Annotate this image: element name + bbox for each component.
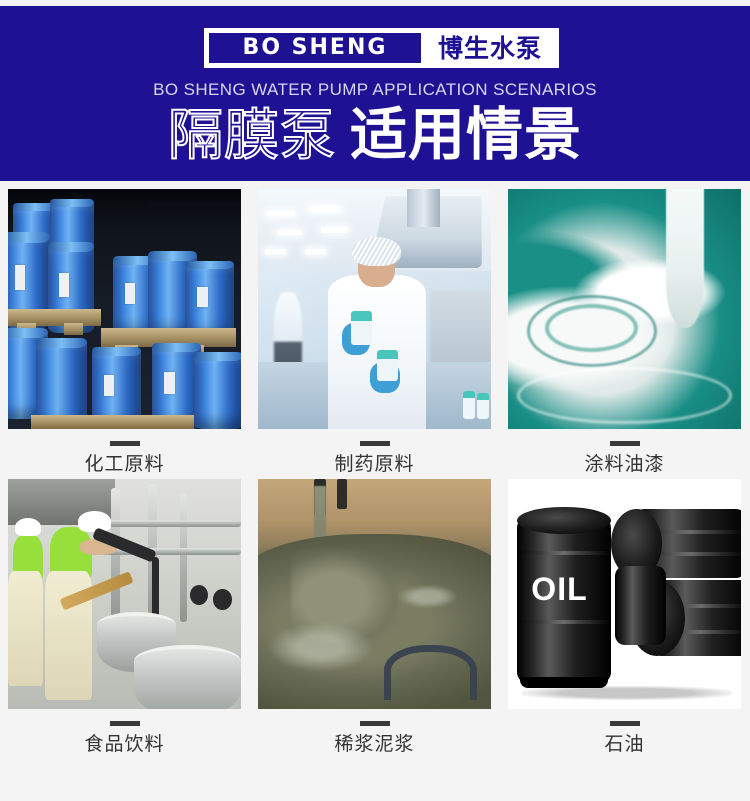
paint-coating-photo[interactable] [508, 189, 741, 429]
caption-dash [360, 441, 390, 446]
scenario-card-chemical[interactable]: 化工原料 [8, 189, 241, 476]
scenario-caption: 食品饮料 [8, 732, 241, 756]
scenario-card-oil[interactable]: OIL 石油 [508, 479, 741, 756]
caption-dash [610, 441, 640, 446]
brand-logo-en-box: BO SHENG [209, 33, 421, 63]
brand-logo-cn-text: 博生水泵 [421, 36, 559, 61]
brand-logo: BO SHENG 博生水泵 [204, 28, 559, 68]
application-scenarios-page: BO SHENG 博生水泵 BO SHENG WATER PUMP APPLIC… [0, 0, 750, 801]
banner-title-outline-text: 隔膜泵 [168, 103, 336, 167]
caption-dash [610, 721, 640, 726]
oil-barrel-label: OIL [531, 573, 587, 605]
scenario-card-pharmaceutical[interactable]: 制药原料 [258, 189, 491, 476]
scenario-caption: 化工原料 [8, 452, 241, 476]
banner-subtitle: BO SHENG WATER PUMP APPLICATION SCENARIO… [0, 80, 750, 100]
caption-dash [360, 721, 390, 726]
chemical-drums-photo[interactable] [8, 189, 241, 429]
scenario-caption: 石油 [508, 732, 741, 756]
brand-logo-en-text: BO SHENG [243, 37, 388, 59]
scenario-caption: 涂料油漆 [508, 452, 741, 476]
caption-dash [110, 721, 140, 726]
header-banner: BO SHENG 博生水泵 BO SHENG WATER PUMP APPLIC… [0, 6, 750, 181]
banner-bottom-spacer [0, 181, 750, 189]
scenario-caption: 制药原料 [258, 452, 491, 476]
banner-title-solid-text: 适用情景 [350, 102, 582, 168]
food-beverage-photo[interactable] [8, 479, 241, 709]
banner-top-spacer [0, 0, 750, 6]
scenario-grid: 化工原料 [0, 189, 750, 801]
caption-dash [110, 441, 140, 446]
scenario-row: 化工原料 [0, 189, 750, 479]
banner-title: 隔膜泵适用情景 [0, 102, 750, 181]
scenario-caption: 稀浆泥浆 [258, 732, 491, 756]
pharmaceutical-lab-photo[interactable] [258, 189, 491, 429]
slurry-mud-photo[interactable] [258, 479, 491, 709]
scenario-card-food[interactable]: 食品饮料 [8, 479, 241, 756]
oil-barrels-photo[interactable]: OIL [508, 479, 741, 709]
scenario-card-paint[interactable]: 涂料油漆 [508, 189, 741, 476]
scenario-card-slurry[interactable]: 稀浆泥浆 [258, 479, 491, 756]
scenario-row: 食品饮料 [0, 479, 750, 769]
